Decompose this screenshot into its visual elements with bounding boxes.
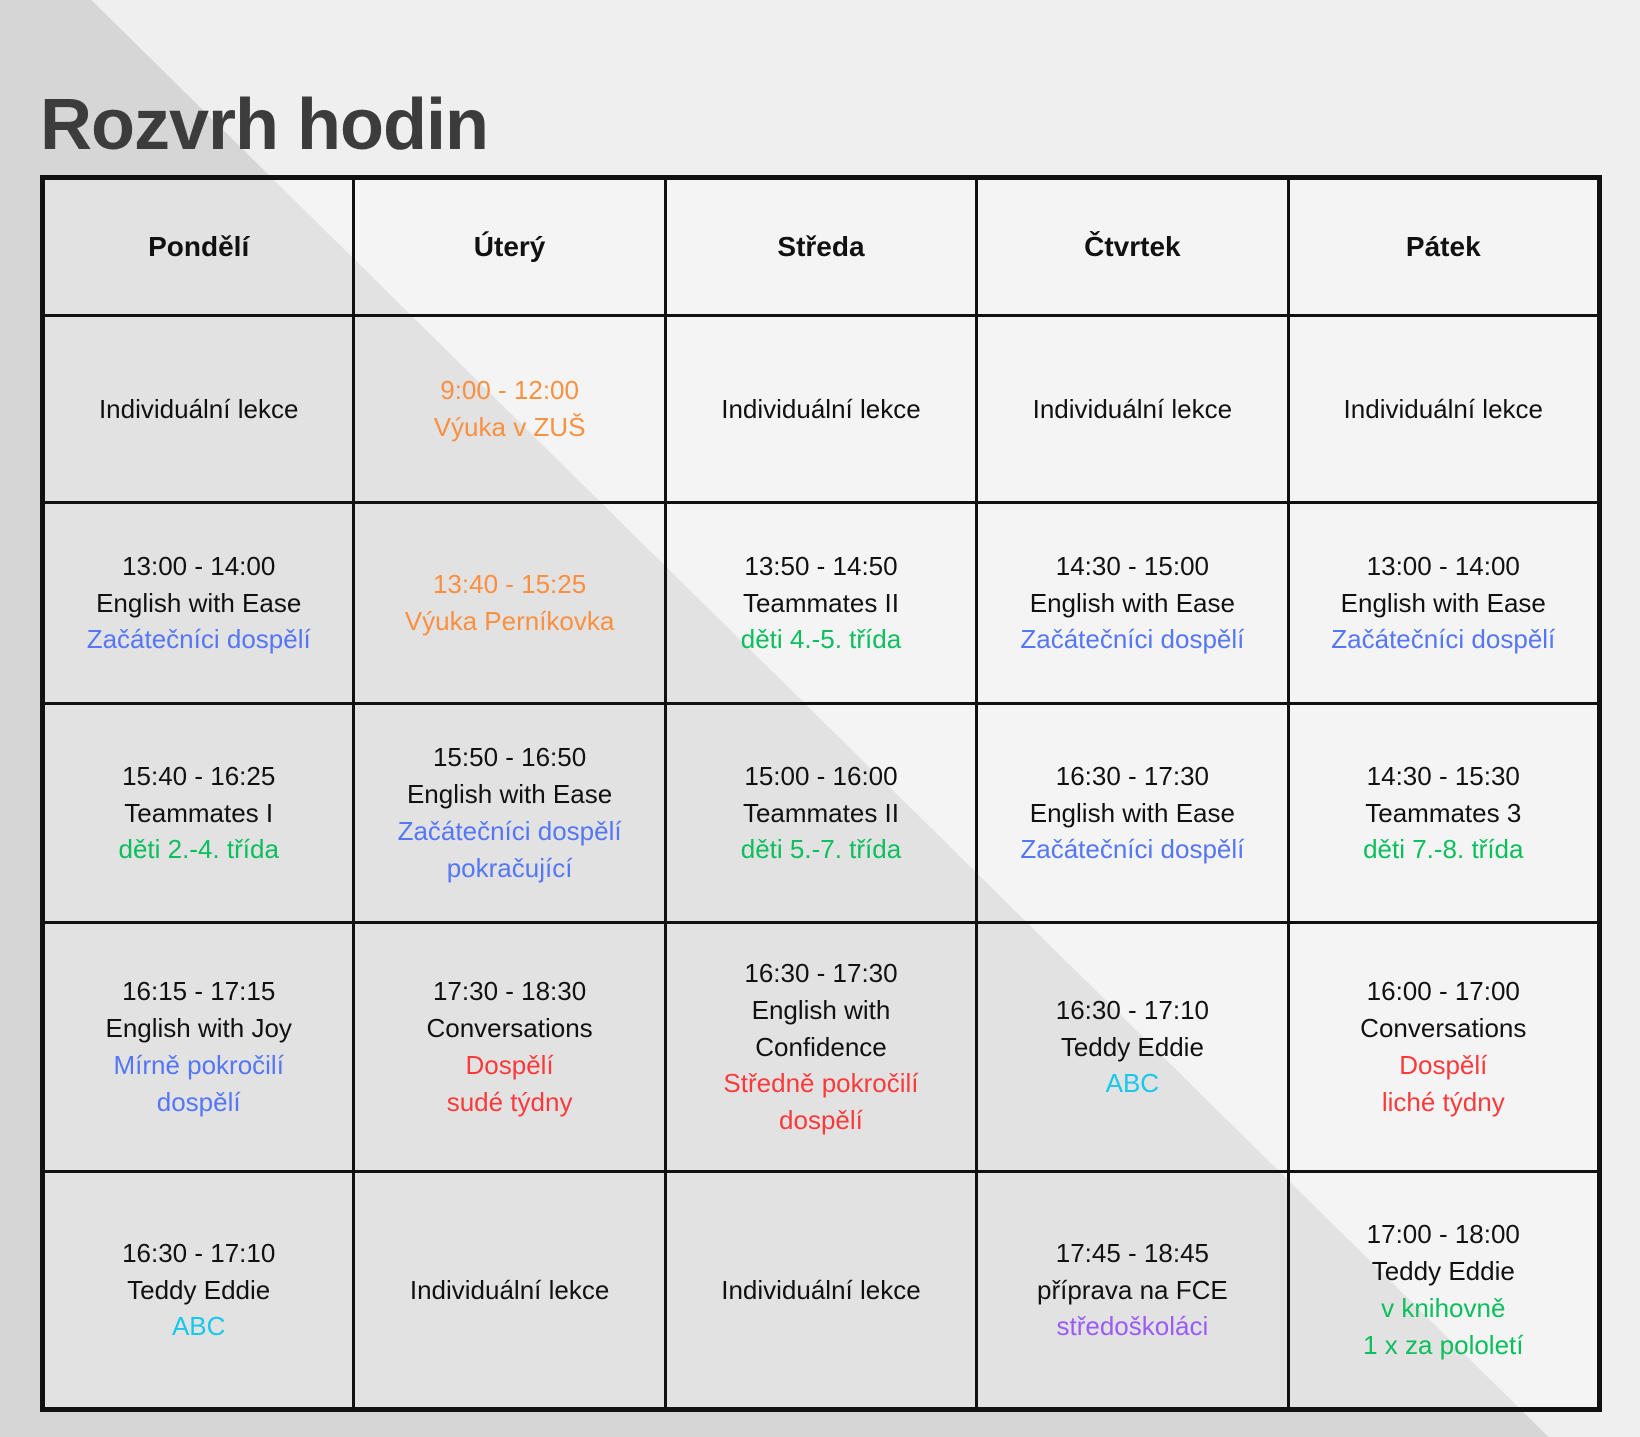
lesson-time: 16:30 - 17:10: [984, 992, 1280, 1029]
lesson-course: English with Ease: [1296, 585, 1591, 622]
schedule-cell[interactable]: 16:30 - 17:30English with EaseZačátečníc…: [977, 704, 1288, 923]
table-row: 13:00 - 14:00English with EaseZačátečníc…: [43, 503, 1600, 704]
lesson-group: děti 4.-5. třída: [673, 621, 969, 658]
lesson-time: 16:30 - 17:30: [673, 955, 969, 992]
column-header-wednesday: Středa: [665, 178, 976, 316]
lesson-time: 9:00 - 12:00: [361, 372, 657, 409]
table-row: Individuální lekce9:00 - 12:00Výuka v ZU…: [43, 316, 1600, 503]
table-body: Individuální lekce9:00 - 12:00Výuka v ZU…: [43, 316, 1600, 1410]
lesson-note: dospělí: [51, 1084, 346, 1121]
schedule-cell[interactable]: 13:00 - 14:00English with EaseZačátečníc…: [43, 503, 354, 704]
lesson-time: 17:30 - 18:30: [361, 973, 657, 1010]
schedule-cell-content: 16:30 - 17:30English with ConfidenceStře…: [673, 955, 969, 1140]
lesson-group: Středně pokročilí: [673, 1065, 969, 1102]
lesson-time: 15:40 - 16:25: [51, 758, 346, 795]
schedule-cell[interactable]: Individuální lekce: [665, 316, 976, 503]
schedule-cell-content: Individuální lekce: [673, 1272, 969, 1309]
lesson-group: v knihovně: [1296, 1290, 1591, 1327]
schedule-cell-content: 14:30 - 15:00English with EaseZačátečníc…: [984, 548, 1280, 659]
schedule-cell-content: 17:30 - 18:30ConversationsDospělísudé tý…: [361, 973, 657, 1121]
lesson-time: 14:30 - 15:00: [984, 548, 1280, 585]
lesson-time: 13:00 - 14:00: [51, 548, 346, 585]
schedule-cell[interactable]: Individuální lekce: [1288, 316, 1599, 503]
lesson-course: Individuální lekce: [984, 391, 1280, 428]
page-title: Rozvrh hodin: [40, 88, 488, 164]
lesson-course: Conversations: [361, 1010, 657, 1047]
lesson-course: English with Ease: [51, 585, 346, 622]
schedule-cell-content: 9:00 - 12:00Výuka v ZUŠ: [361, 372, 657, 446]
column-header-tuesday: Úterý: [354, 178, 665, 316]
schedule-cell[interactable]: 13:00 - 14:00English with EaseZačátečníc…: [1288, 503, 1599, 704]
lesson-group: ABC: [984, 1065, 1280, 1102]
lesson-group: středoškoláci: [984, 1308, 1280, 1345]
schedule-cell-content: 16:30 - 17:10Teddy EddieABC: [51, 1235, 346, 1346]
lesson-time: 13:50 - 14:50: [673, 548, 969, 585]
lesson-group: Dospělí: [361, 1047, 657, 1084]
schedule-cell-content: 17:45 - 18:45příprava na FCEstředoškolác…: [984, 1235, 1280, 1346]
lesson-note: pokračující: [361, 850, 657, 887]
schedule-cell[interactable]: Individuální lekce: [977, 316, 1288, 503]
table-row: 16:15 - 17:15English with JoyMírně pokro…: [43, 923, 1600, 1172]
schedule-cell-content: 13:00 - 14:00English with EaseZačátečníc…: [51, 548, 346, 659]
lesson-group: ABC: [51, 1308, 346, 1345]
lesson-course: English with Ease: [984, 795, 1280, 832]
lesson-group: Začátečníci dospělí: [984, 831, 1280, 868]
lesson-time: 17:00 - 18:00: [1296, 1216, 1591, 1253]
lesson-time: 16:30 - 17:10: [51, 1235, 346, 1272]
schedule-cell-content: Individuální lekce: [361, 1272, 657, 1309]
lesson-course: Individuální lekce: [1296, 391, 1591, 428]
lesson-time: 16:30 - 17:30: [984, 758, 1280, 795]
lesson-course: Teddy Eddie: [1296, 1253, 1591, 1290]
lesson-course: příprava na FCE: [984, 1272, 1280, 1309]
schedule-cell-content: 15:00 - 16:00Teammates IIděti 5.-7. tříd…: [673, 758, 969, 869]
schedule-cell[interactable]: 17:00 - 18:00Teddy Eddiev knihovně1 x za…: [1288, 1172, 1599, 1410]
column-header-friday: Pátek: [1288, 178, 1599, 316]
schedule-cell[interactable]: 13:50 - 14:50Teammates IIděti 4.-5. tříd…: [665, 503, 976, 704]
schedule-cell-content: 16:30 - 17:30English with EaseZačátečníc…: [984, 758, 1280, 869]
schedule-cell-content: 15:50 - 16:50English with EaseZačátečníc…: [361, 739, 657, 887]
schedule-cell-content: 15:40 - 16:25Teammates Iděti 2.-4. třída: [51, 758, 346, 869]
schedule-cell[interactable]: 13:40 - 15:25Výuka Perníkovka: [354, 503, 665, 704]
lesson-course: English with Ease: [984, 585, 1280, 622]
column-header-thursday: Čtvrtek: [977, 178, 1288, 316]
column-header-monday: Pondělí: [43, 178, 354, 316]
schedule-cell-content: 16:15 - 17:15English with JoyMírně pokro…: [51, 973, 346, 1121]
lesson-group: Začátečníci dospělí: [984, 621, 1280, 658]
schedule-cell-content: Individuální lekce: [51, 391, 346, 428]
schedule-cell[interactable]: 16:30 - 17:30English with ConfidenceStře…: [665, 923, 976, 1172]
lesson-course: English with Ease: [361, 776, 657, 813]
schedule-cell[interactable]: 16:15 - 17:15English with JoyMírně pokro…: [43, 923, 354, 1172]
lesson-course: Individuální lekce: [51, 391, 346, 428]
schedule-cell-content: 13:40 - 15:25Výuka Perníkovka: [361, 566, 657, 640]
lesson-course: English with Joy: [51, 1010, 346, 1047]
schedule-cell[interactable]: 14:30 - 15:00English with EaseZačátečníc…: [977, 503, 1288, 704]
schedule-cell[interactable]: Individuální lekce: [665, 1172, 976, 1410]
schedule-cell-content: Individuální lekce: [673, 391, 969, 428]
table-row: 16:30 - 17:10Teddy EddieABCIndividuální …: [43, 1172, 1600, 1410]
lesson-course: Teammates I: [51, 795, 346, 832]
schedule-cell[interactable]: 17:30 - 18:30ConversationsDospělísudé tý…: [354, 923, 665, 1172]
lesson-group: děti 2.-4. třída: [51, 831, 346, 868]
schedule-cell-content: 17:00 - 18:00Teddy Eddiev knihovně1 x za…: [1296, 1216, 1591, 1364]
lesson-group: děti 7.-8. třída: [1296, 831, 1591, 868]
schedule-cell[interactable]: 15:50 - 16:50English with EaseZačátečníc…: [354, 704, 665, 923]
lesson-time: 16:15 - 17:15: [51, 973, 346, 1010]
weekly-schedule-table: Pondělí Úterý Středa Čtvrtek Pátek Indiv…: [40, 175, 1602, 1412]
table-row: 15:40 - 16:25Teammates Iděti 2.-4. třída…: [43, 704, 1600, 923]
lesson-course: Teammates II: [673, 585, 969, 622]
lesson-course: Výuka Perníkovka: [361, 603, 657, 640]
schedule-cell[interactable]: 16:30 - 17:10Teddy EddieABC: [43, 1172, 354, 1410]
lesson-time: 15:50 - 16:50: [361, 739, 657, 776]
lesson-time: 13:00 - 14:00: [1296, 548, 1591, 585]
schedule-cell-content: Individuální lekce: [1296, 391, 1591, 428]
schedule-cell[interactable]: Individuální lekce: [43, 316, 354, 503]
schedule-cell[interactable]: 15:40 - 16:25Teammates Iděti 2.-4. třída: [43, 704, 354, 923]
lesson-course: Teddy Eddie: [51, 1272, 346, 1309]
schedule-cell[interactable]: 14:30 - 15:30Teammates 3děti 7.-8. třída: [1288, 704, 1599, 923]
schedule-cell[interactable]: 9:00 - 12:00Výuka v ZUŠ: [354, 316, 665, 503]
lesson-course: Individuální lekce: [361, 1272, 657, 1309]
lesson-time: 16:00 - 17:00: [1296, 973, 1591, 1010]
table-header-row: Pondělí Úterý Středa Čtvrtek Pátek: [43, 178, 1600, 316]
lesson-course: Teddy Eddie: [984, 1029, 1280, 1066]
lesson-course: Teammates 3: [1296, 795, 1591, 832]
lesson-group: Dospělí: [1296, 1047, 1591, 1084]
schedule-cell-content: 16:30 - 17:10Teddy EddieABC: [984, 992, 1280, 1103]
lesson-time: 15:00 - 16:00: [673, 758, 969, 795]
lesson-group: děti 5.-7. třída: [673, 831, 969, 868]
lesson-time: 14:30 - 15:30: [1296, 758, 1591, 795]
schedule-cell-content: 13:00 - 14:00English with EaseZačátečníc…: [1296, 548, 1591, 659]
lesson-course: Individuální lekce: [673, 1272, 969, 1309]
lesson-course: Conversations: [1296, 1010, 1591, 1047]
lesson-note: liché týdny: [1296, 1084, 1591, 1121]
schedule-cell-content: 14:30 - 15:30Teammates 3děti 7.-8. třída: [1296, 758, 1591, 869]
schedule-cell-content: 16:00 - 17:00ConversationsDospělíliché t…: [1296, 973, 1591, 1121]
lesson-time: 17:45 - 18:45: [984, 1235, 1280, 1272]
lesson-group: Začátečníci dospělí: [51, 621, 346, 658]
schedule-cell[interactable]: 17:45 - 18:45příprava na FCEstředoškolác…: [977, 1172, 1288, 1410]
schedule-cell[interactable]: 15:00 - 16:00Teammates IIděti 5.-7. tříd…: [665, 704, 976, 923]
lesson-course: Teammates II: [673, 795, 969, 832]
lesson-note: 1 x za pololetí: [1296, 1327, 1591, 1364]
schedule-cell-content: Individuální lekce: [984, 391, 1280, 428]
schedule-cell[interactable]: 16:00 - 17:00ConversationsDospělíliché t…: [1288, 923, 1599, 1172]
lesson-course: English with Confidence: [673, 992, 969, 1066]
lesson-note: dospělí: [673, 1102, 969, 1139]
lesson-group: Mírně pokročilí: [51, 1047, 346, 1084]
schedule-cell-content: 13:50 - 14:50Teammates IIděti 4.-5. tříd…: [673, 548, 969, 659]
lesson-time: 13:40 - 15:25: [361, 566, 657, 603]
lesson-group: Začátečníci dospělí: [1296, 621, 1591, 658]
schedule-page: Rozvrh hodin Pondělí Úterý Středa Čtvrte…: [0, 0, 1640, 1437]
schedule-cell[interactable]: Individuální lekce: [354, 1172, 665, 1410]
table-header: Pondělí Úterý Středa Čtvrtek Pátek: [43, 178, 1600, 316]
schedule-cell[interactable]: 16:30 - 17:10Teddy EddieABC: [977, 923, 1288, 1172]
lesson-group: Začátečníci dospělí: [361, 813, 657, 850]
lesson-course: Individuální lekce: [673, 391, 969, 428]
lesson-course: Výuka v ZUŠ: [361, 409, 657, 446]
lesson-note: sudé týdny: [361, 1084, 657, 1121]
